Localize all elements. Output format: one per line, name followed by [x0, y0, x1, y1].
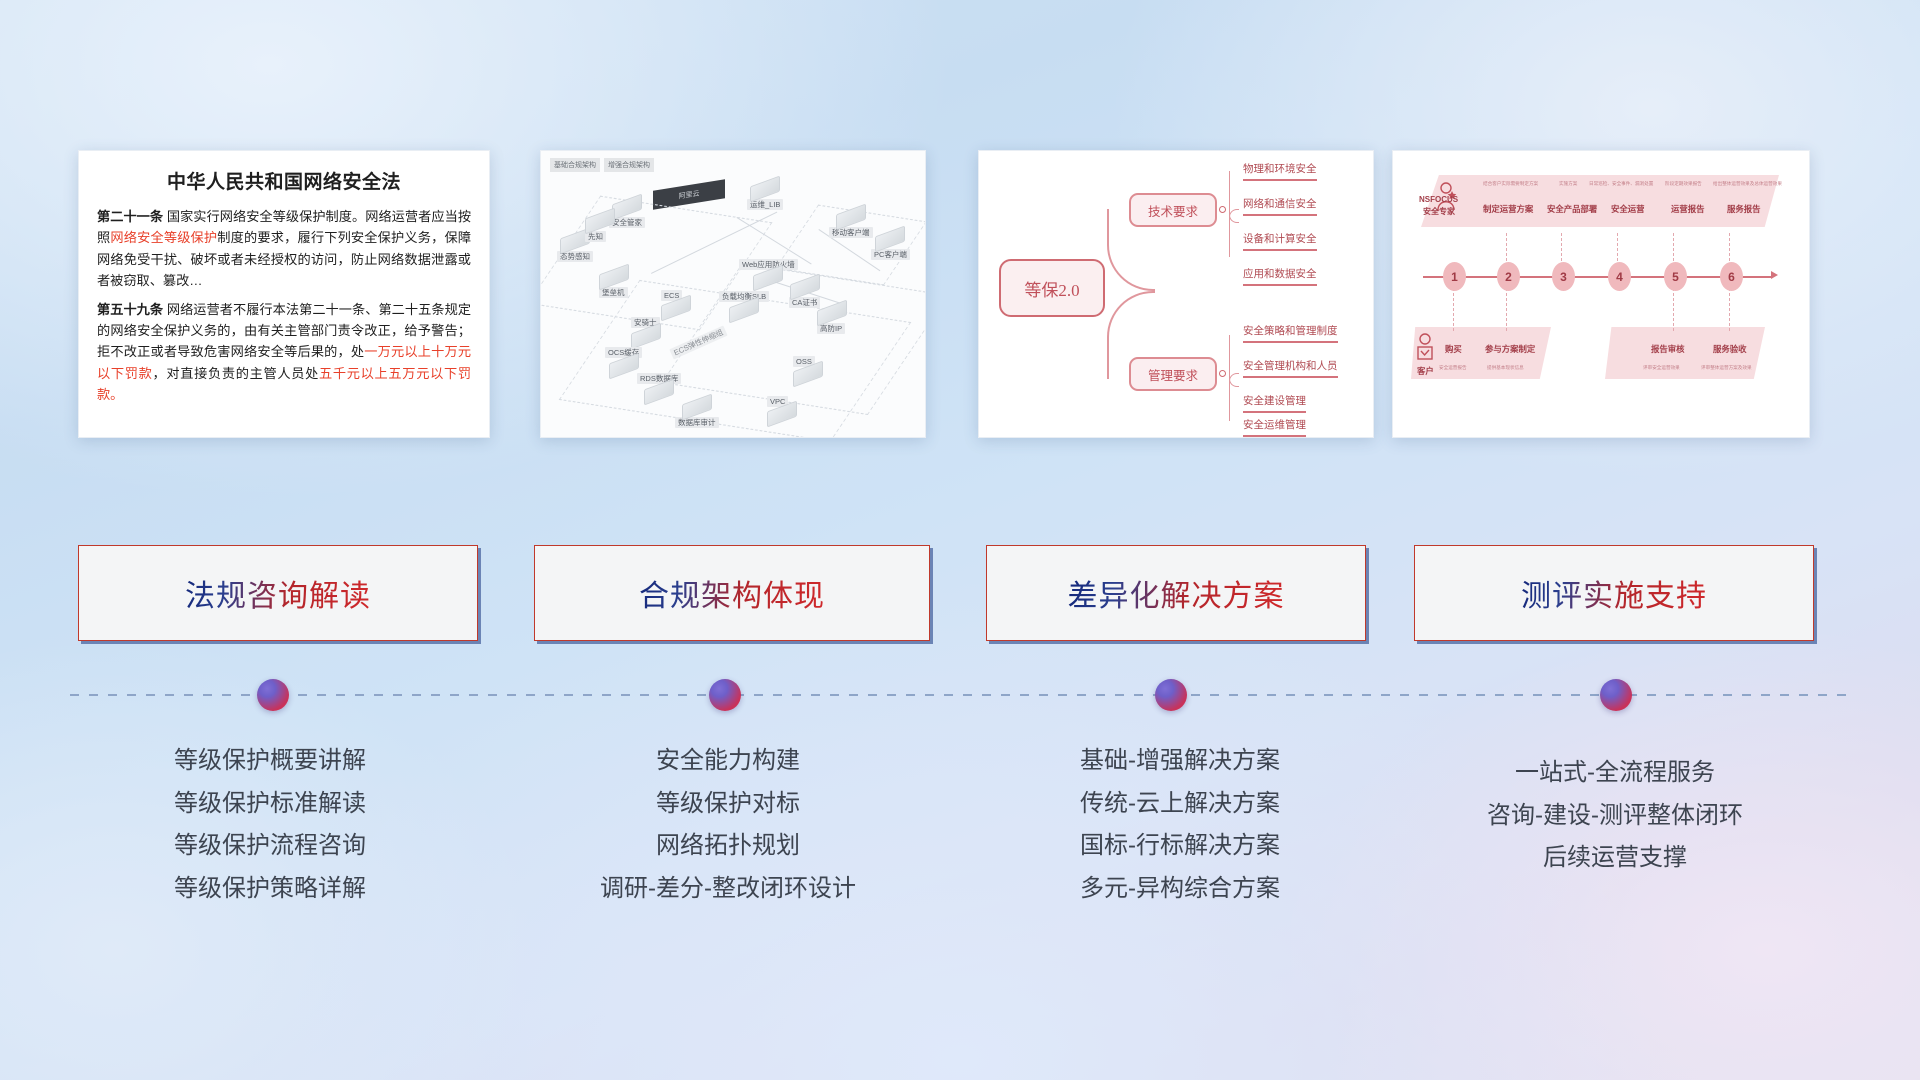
mindmap-branch-mgmt: 管理要求 [1129, 357, 1217, 391]
law-article-59: 第五十九条 网络运营者不履行本法第二十一条、第二十五条规定的网络安全保护义务的，… [97, 299, 471, 406]
list-item: 基础-增强解决方案 [980, 740, 1380, 783]
tab-label-1: 合规架构体现 [639, 571, 825, 615]
arch-node-11: CA证书 [789, 279, 820, 308]
arch-node-label-9: Web应用防火墙 [739, 259, 798, 270]
law-body: 中华人民共和国网络安全法 第二十一条 国家实行网络安全等级保护制度。网络运营者应… [79, 151, 489, 415]
mindmap-stem-mgmt-bottom [1229, 373, 1239, 421]
mindmap-leaf-m3: 安全运维管理 [1243, 417, 1306, 437]
mindmap-leaf-t2: 设备和计算安全 [1243, 231, 1317, 251]
mindmap-branch-tech: 技术要求 [1129, 193, 1217, 227]
nsfocus-bottom-sub-1: 提供基本现状信息 [1487, 365, 1524, 371]
arch-tag-0: 基础合规架构 [550, 158, 600, 172]
arch-node-7: RDS数据库 [637, 373, 681, 402]
list-item: 一站式-全流程服务 [1410, 752, 1820, 795]
list-item: 传统-云上解决方案 [980, 783, 1380, 826]
list-item: 安全能力构建 [528, 740, 928, 783]
tab-label-2: 差异化解决方案 [1068, 571, 1285, 615]
architecture-tagbar: 基础合规架构 增强合规架构 [550, 158, 654, 172]
tab-differentiated-solution[interactable]: 差异化解决方案 [986, 545, 1366, 641]
nsfocus-top-sub-4: 给出整体运营效果及总体运营效果 [1713, 181, 1782, 187]
tabs-row: 法规咨询解读 合规架构体现 差异化解决方案 测评实施支持 [0, 545, 1920, 641]
nsfocus-top-sub-0: 结合客户实际需要制定方案 [1483, 181, 1538, 187]
list-item: 等级保护标准解读 [70, 783, 470, 826]
nsfocus-bottom-title-3: 服务验收 [1713, 343, 1747, 355]
timeline-step-6: 6 [1720, 262, 1743, 291]
nsfocus-top-sub-2: 日常巡检、安全事件、漏洞处置 [1589, 181, 1653, 187]
card-mindmap[interactable]: 等保2.0 技术要求 管理要求 物理和环境安全 网络和通信安全 设备和计算安全 … [978, 150, 1374, 438]
list-item: 调研-差分-整改闭环设计 [528, 868, 928, 911]
timeline-dashed-line [70, 694, 1848, 696]
mindmap-leaf-m0: 安全策略和管理制度 [1243, 323, 1338, 343]
list-item: 国标-行标解决方案 [980, 825, 1380, 868]
timeline-step-2: 2 [1497, 262, 1520, 291]
article-21-label: 第二十一条 [97, 209, 163, 224]
arch-node-4: ECS [661, 291, 691, 318]
timeline-step-1: 1 [1443, 262, 1466, 291]
timeline-step-4: 4 [1608, 262, 1631, 291]
timeline-dot-3[interactable] [1600, 679, 1632, 711]
tab-label-3: 测评实施支持 [1521, 571, 1707, 615]
list-item: 等级保护流程咨询 [70, 825, 470, 868]
mindmap-canvas: 等保2.0 技术要求 管理要求 物理和环境安全 网络和通信安全 设备和计算安全 … [979, 151, 1373, 437]
architecture-canvas: 基础合规架构 增强合规架构 阿里云 安全管家 态势感知 先知 堡垒机 ECS 安… [541, 151, 925, 437]
arch-node-15: 运维_LIB [747, 181, 783, 210]
list-item: 多元-异构综合方案 [980, 868, 1380, 911]
timeline-dot-2[interactable] [1155, 679, 1187, 711]
card-service-timeline[interactable]: NSFOCUS 安全专家 结合客户实际需要制定方案 实施方案 日常巡检、安全事件… [1392, 150, 1810, 438]
nsfocus-bottom-sub-0: 安全运营报告 [1439, 365, 1467, 371]
nsfocus-top-title-3: 运营报告 [1671, 203, 1705, 215]
mindmap-leaf-m1: 安全管理机构和人员 [1243, 358, 1338, 378]
tab-regulation-consulting[interactable]: 法规咨询解读 [78, 545, 478, 641]
arch-node-10: 负载均衡SLB [719, 291, 769, 320]
arch-node-14: VPC [767, 397, 797, 424]
arch-node-5: 安骑士 [631, 317, 661, 346]
mindmap-leaf-t3: 应用和数据安全 [1243, 266, 1317, 286]
timeline-step-3: 3 [1552, 262, 1575, 291]
mindmap-root: 等保2.0 [999, 259, 1105, 317]
nsfocus-bottom-title-0: 购买 [1445, 343, 1462, 355]
slide-canvas: 中华人民共和国网络安全法 第二十一条 国家实行网络安全等级保护制度。网络运营者应… [0, 0, 1920, 1080]
list-item: 等级保护概要讲解 [70, 740, 470, 783]
expert-label-line1: NSFOCUS [1419, 195, 1458, 204]
arch-node-6: OCS缓存 [605, 347, 642, 376]
mindmap-leaf-t1: 网络和通信安全 [1243, 196, 1317, 216]
mindmap-leaf-m2: 安全建设管理 [1243, 393, 1306, 413]
timeline-dot-0[interactable] [257, 679, 289, 711]
nsfocus-top-title-1: 安全产品部署 [1547, 203, 1597, 215]
tab-compliance-architecture[interactable]: 合规架构体现 [534, 545, 930, 641]
list-column-3: 一站式-全流程服务 咨询-建设-测评整体闭环 后续运营支撑 [1410, 752, 1820, 880]
nsfocus-bottom-title-1: 参与方案制定 [1485, 343, 1535, 355]
list-column-0: 等级保护概要讲解 等级保护标准解读 等级保护流程咨询 等级保护策略详解 [70, 740, 470, 911]
customer-label: 客户 [1417, 365, 1434, 377]
article-21-highlight: 网络安全等级保护 [110, 230, 217, 245]
list-item: 等级保护策略详解 [70, 868, 470, 911]
list-item: 咨询-建设-测评整体闭环 [1410, 795, 1820, 838]
cards-row: 中华人民共和国网络安全法 第二十一条 国家实行网络安全等级保护制度。网络运营者应… [0, 150, 1920, 440]
arch-node-8: 数据库审计 [675, 399, 719, 428]
arch-node-label-7: RDS数据库 [637, 373, 681, 384]
list-item: 等级保护对标 [528, 783, 928, 826]
arch-node-3: 堡垒机 [599, 269, 629, 298]
nsfocus-top-title-2: 安全运营 [1611, 203, 1645, 215]
nsfocus-canvas: NSFOCUS 安全专家 结合客户实际需要制定方案 实施方案 日常巡检、安全事件… [1393, 151, 1809, 437]
arch-node-12: 高防IP [817, 305, 847, 334]
nsfocus-bottom-title-2: 报告审核 [1651, 343, 1685, 355]
mindmap-leaf-t0: 物理和环境安全 [1243, 161, 1317, 181]
tab-label-0: 法规咨询解读 [185, 571, 371, 615]
mindmap-stem-tech-bottom [1229, 209, 1239, 257]
nsfocus-top-sub-3: 阶段定期效果报告 [1665, 181, 1702, 187]
mindmap-dot-tech [1219, 206, 1226, 213]
arch-node-17: PC客户端 [871, 231, 910, 260]
arch-node-16: 移动客户端 [829, 209, 873, 238]
nsfocus-bottom-sub-2: 评审安全运营效果 [1643, 365, 1680, 371]
tab-assessment-support[interactable]: 测评实施支持 [1414, 545, 1814, 641]
timeline-step-5: 5 [1664, 262, 1687, 291]
list-item: 网络拓扑规划 [528, 825, 928, 868]
nsfocus-top-sub-1: 实施方案 [1559, 181, 1577, 187]
arch-tag-1: 增强合规架构 [604, 158, 654, 172]
nsfocus-top-title-0: 制定运营方案 [1483, 203, 1533, 215]
arch-node-2: 先知 [585, 213, 615, 242]
list-column-1: 安全能力构建 等级保护对标 网络拓扑规划 调研-差分-整改闭环设计 [528, 740, 928, 911]
law-article-21: 第二十一条 国家实行网络安全等级保护制度。网络运营者应当按照网络安全等级保护制度… [97, 206, 471, 292]
timeline-arrowhead [1771, 271, 1778, 279]
timeline-dot-1[interactable] [709, 679, 741, 711]
card-law-text[interactable]: 中华人民共和国网络安全法 第二十一条 国家实行网络安全等级保护制度。网络运营者应… [78, 150, 490, 438]
customer-person-icon [1415, 333, 1435, 365]
nsfocus-top-title-4: 服务报告 [1727, 203, 1761, 215]
list-item: 后续运营支撑 [1410, 837, 1820, 880]
arch-node-label-10: 负载均衡SLB [719, 291, 769, 302]
article-59-label: 第五十九条 [97, 302, 163, 317]
list-column-2: 基础-增强解决方案 传统-云上解决方案 国标-行标解决方案 多元-异构综合方案 [980, 740, 1380, 911]
nsfocus-bottom-sub-3: 评审整体运营方案及效果 [1701, 365, 1752, 371]
expert-label-line2: 安全专家 [1423, 206, 1455, 217]
arch-node-13: OSS [793, 357, 823, 384]
article-59-text-b: ，对直接负责的主管人员处 [153, 366, 320, 381]
card-architecture-diagram[interactable]: 基础合规架构 增强合规架构 阿里云 安全管家 态势感知 先知 堡垒机 ECS 安… [540, 150, 926, 438]
mindmap-dot-mgmt [1219, 370, 1226, 377]
law-title: 中华人民共和国网络安全法 [97, 167, 471, 194]
